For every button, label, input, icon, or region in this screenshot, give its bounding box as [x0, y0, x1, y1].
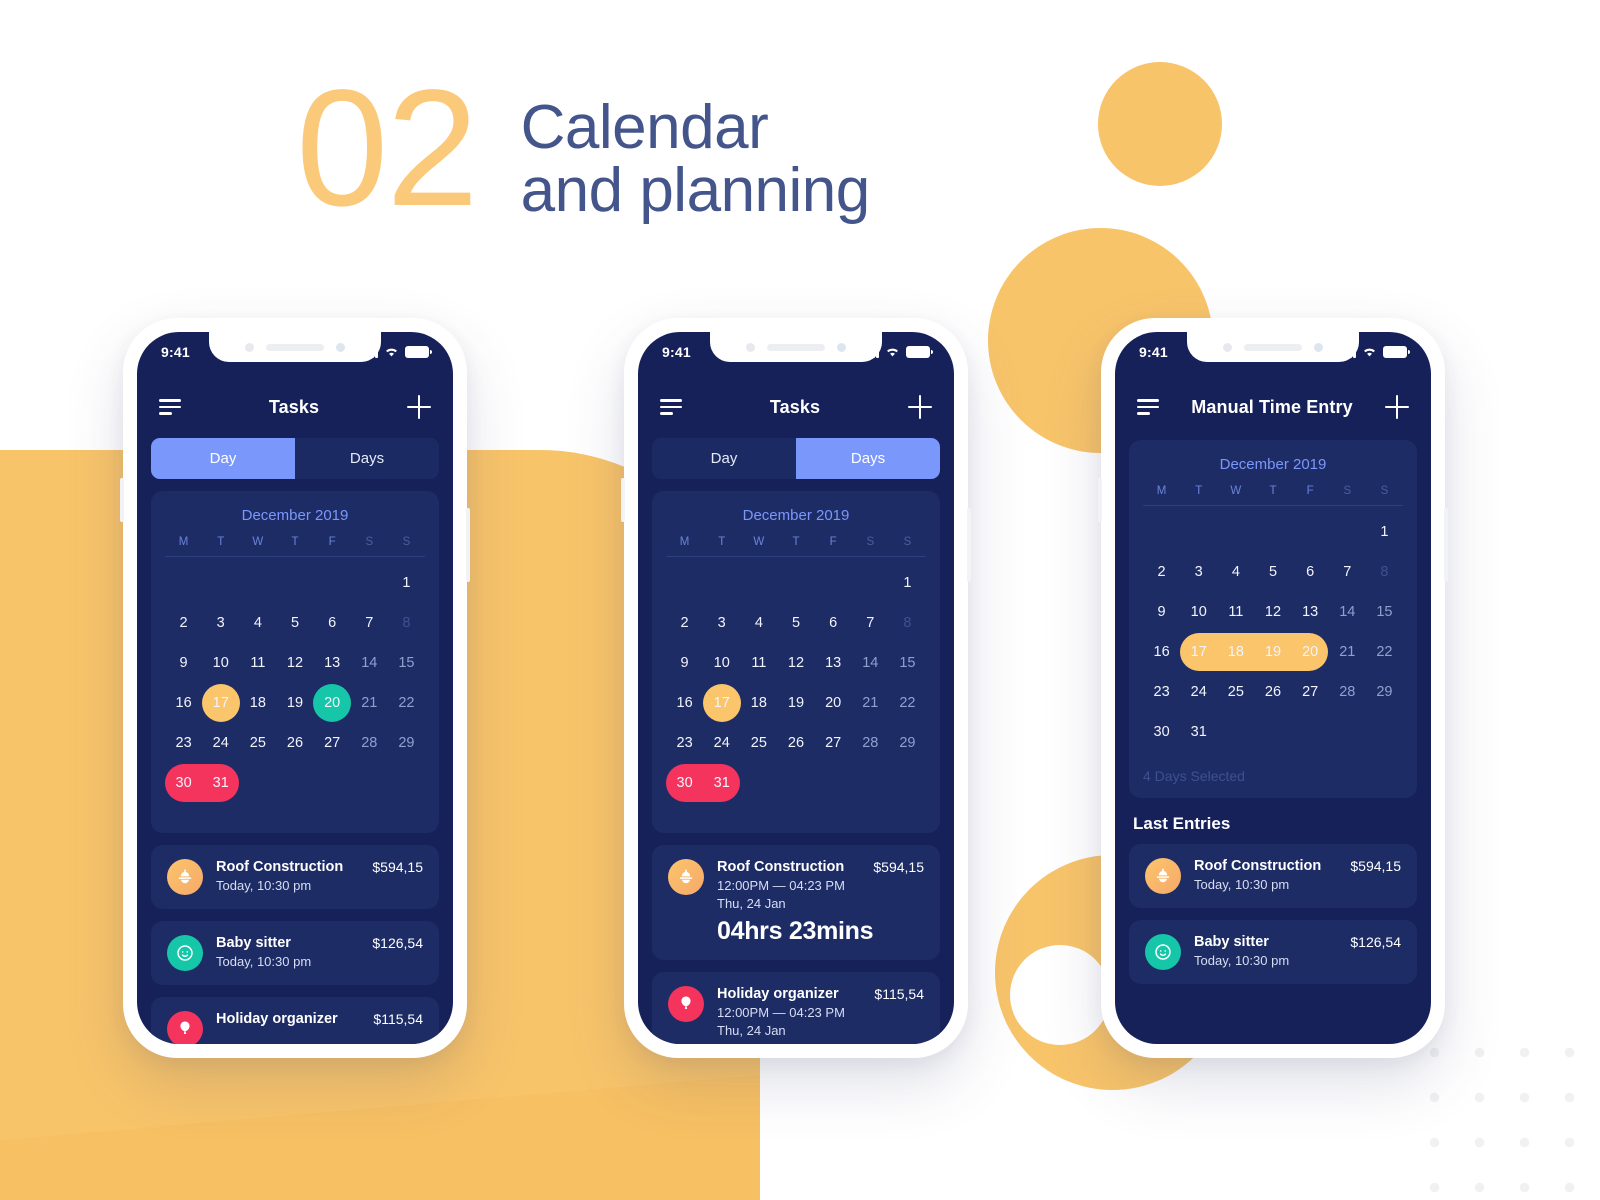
calendar-day-13[interactable]: 13 [314, 643, 351, 683]
calendar-day-27[interactable]: 27 [314, 723, 351, 763]
status-time: 9:41 [161, 344, 190, 360]
calendar-day-17[interactable]: 17 [1180, 632, 1217, 672]
phone-side-button [1444, 508, 1448, 582]
task-subtitle: Today, 10:30 pm [1194, 877, 1321, 892]
calendar-day-3[interactable]: 3 [703, 603, 740, 643]
calendar-day-label: 19 [287, 695, 303, 711]
weekday-s1: S [852, 536, 889, 548]
app-body-manual: December 2019 M T W T F S S 123456789101… [1115, 440, 1431, 984]
calendar-day-25[interactable]: 25 [1217, 672, 1254, 712]
calendar-day-2[interactable]: 2 [1143, 552, 1180, 592]
page-title: Tasks [269, 397, 319, 418]
calendar-day-30[interactable]: 30 [165, 763, 202, 803]
status-time: 9:41 [1139, 344, 1168, 360]
slide-title-line-1: Calendar [521, 96, 870, 159]
calendar-day-11[interactable]: 11 [740, 643, 777, 683]
wifi-icon [885, 346, 900, 358]
segment-option-day[interactable]: Day [151, 438, 295, 479]
calendar-day-17[interactable]: 17 [703, 683, 740, 723]
calendar-day-label: 16 [1154, 644, 1170, 660]
calendar-day-2[interactable]: 2 [666, 603, 703, 643]
calendar-day-20[interactable]: 20 [1292, 632, 1329, 672]
task-amount: $594,15 [873, 859, 924, 875]
weekday-t2: T [777, 536, 814, 548]
calendar-weekday-row: M T W T F S S [165, 536, 425, 557]
calendar-day-18[interactable]: 18 [1217, 632, 1254, 672]
calendar-day-8[interactable]: 8 [388, 603, 425, 643]
calendar-day-label: 15 [899, 655, 915, 671]
calendar-day-13[interactable]: 13 [1292, 592, 1329, 632]
phone-volume-button [120, 478, 124, 522]
decor-circle-lower-hole [1010, 945, 1110, 1045]
weekday-m: M [165, 536, 202, 548]
status-bar: 9:41 [137, 332, 453, 376]
calendar-day-26[interactable]: 26 [276, 723, 313, 763]
task-info: Baby sitter Today, 10:30 pm $126,54 [216, 935, 423, 969]
calendar-day-23[interactable]: 23 [1143, 672, 1180, 712]
decor-circle-top-right [1098, 62, 1222, 186]
task-name: Baby sitter [216, 935, 311, 951]
calendar-day-label: 8 [1380, 564, 1388, 580]
page-title: Manual Time Entry [1191, 397, 1352, 418]
calendar-day-26[interactable]: 26 [1254, 672, 1291, 712]
calendar-day-28[interactable]: 28 [1329, 672, 1366, 712]
calendar-day-26[interactable]: 26 [777, 723, 814, 763]
weekday-s1: S [1329, 485, 1366, 497]
status-time: 9:41 [662, 344, 691, 360]
phone-volume-button [1098, 478, 1102, 522]
calendar-day-21[interactable]: 21 [852, 683, 889, 723]
calendar-day-label: 4 [254, 615, 262, 631]
calendar-day-label: 2 [1158, 564, 1166, 580]
slide-heading: 02 Calendar and planning [296, 66, 870, 232]
weekday-t1: T [202, 536, 239, 548]
calendar-grid-day[interactable]: 1234567891011121314151617181920212223242… [165, 563, 425, 803]
signal-bars-icon [863, 347, 880, 358]
calendar-day-3[interactable]: 3 [1180, 552, 1217, 592]
hamburger-icon[interactable] [660, 399, 682, 415]
weekday-f: F [314, 536, 351, 548]
calendar-day-2[interactable]: 2 [165, 603, 202, 643]
calendar-day-8[interactable]: 8 [1366, 552, 1403, 592]
calendar-day-15[interactable]: 15 [1366, 592, 1403, 632]
calendar-day-19[interactable]: 19 [777, 683, 814, 723]
plus-icon[interactable] [908, 395, 932, 419]
calendar-day-label: 3 [718, 615, 726, 631]
phone-side-button [466, 508, 470, 582]
task-amount: $594,15 [1350, 858, 1401, 874]
calendar-day-label: 8 [903, 615, 911, 631]
calendar-day-label: 1 [402, 575, 410, 591]
weekday-f: F [1292, 485, 1329, 497]
task-amount: $115,54 [373, 1011, 423, 1027]
status-icons [362, 346, 430, 358]
calendar-day-label: 10 [213, 655, 229, 671]
phone-screen-day: 9:41 Tasks Day Days December 2019 [137, 332, 453, 1044]
hamburger-icon[interactable] [159, 399, 181, 415]
calendar-day-label: 17 [213, 695, 229, 711]
plus-icon[interactable] [407, 395, 431, 419]
calendar-day-label: 5 [792, 615, 800, 631]
app-navbar-manual: Manual Time Entry [1115, 376, 1431, 438]
calendar-day-label: 12 [1265, 604, 1281, 620]
calendar-day-5[interactable]: 5 [276, 603, 313, 643]
calendar-day-label: 24 [213, 735, 229, 751]
page-title: Tasks [770, 397, 820, 418]
calendar-day-25[interactable]: 25 [740, 723, 777, 763]
weekday-t2: T [276, 536, 313, 548]
task-row[interactable]: Roof Construction Today, 10:30 pm $594,1… [1129, 844, 1417, 908]
task-subtitle: Today, 10:30 pm [1194, 953, 1289, 968]
task-name: Holiday organizer [717, 986, 845, 1002]
calendar-day-label: 4 [755, 615, 763, 631]
weekday-s2: S [1366, 485, 1403, 497]
calendar-day-16[interactable]: 16 [666, 683, 703, 723]
weekday-w: W [740, 536, 777, 548]
calendar-weekday-row: M T W T F S S [666, 536, 926, 557]
calendar-day-label: 28 [1339, 684, 1355, 700]
phone-screen-manual: 9:41 Manual Time Entry December 2019 M T [1115, 332, 1431, 1044]
calendar-day-label: 14 [862, 655, 878, 671]
slide-canvas: 02 Calendar and planning 9:41 [0, 0, 1600, 1200]
calendar-day-label: 27 [324, 735, 340, 751]
task-amount: $126,54 [1350, 934, 1401, 950]
calendar-day-25[interactable]: 25 [239, 723, 276, 763]
calendar-day-label: 5 [291, 615, 299, 631]
calendar-day-15[interactable]: 15 [388, 643, 425, 683]
plus-icon[interactable] [1385, 395, 1409, 419]
calendar-day-20[interactable]: 20 [815, 683, 852, 723]
calendar-day-label: 30 [677, 775, 693, 791]
baby-face-icon [167, 935, 203, 971]
calendar-day-label: 3 [217, 615, 225, 631]
calendar-blank-cell [351, 563, 388, 603]
calendar-month-label: December 2019 [1143, 456, 1403, 473]
calendar-day-label: 4 [1232, 564, 1240, 580]
calendar-day-5[interactable]: 5 [1254, 552, 1291, 592]
phone-mockup-manual: 9:41 Manual Time Entry December 2019 M T [1101, 318, 1445, 1058]
task-name: Holiday organizer [216, 1011, 338, 1027]
calendar-day-label: 19 [1265, 644, 1281, 660]
calendar-day-4[interactable]: 4 [1217, 552, 1254, 592]
task-row[interactable]: Holiday organizer $115,54 [151, 997, 439, 1044]
calendar-day-label: 5 [1269, 564, 1277, 580]
calendar-day-4[interactable]: 4 [239, 603, 276, 643]
calendar-day-label: 20 [1302, 644, 1318, 660]
calendar-blank-cell [815, 563, 852, 603]
calendar-day-1[interactable]: 1 [1366, 512, 1403, 552]
calendar-day-label: 23 [677, 735, 693, 751]
calendar-day-label: 20 [825, 695, 841, 711]
calendar-day-23[interactable]: 23 [165, 723, 202, 763]
calendar-day-31[interactable]: 31 [202, 763, 239, 803]
calendar-day-label: 28 [361, 735, 377, 751]
calendar-day-14[interactable]: 14 [351, 643, 388, 683]
app-body-day: Day Days December 2019 M T W T F S S 123… [137, 438, 453, 1044]
calendar-blank-cell [202, 563, 239, 603]
calendar-day-label: 29 [1376, 684, 1392, 700]
calendar-day-11[interactable]: 11 [1217, 592, 1254, 632]
calendar-day-12[interactable]: 12 [276, 643, 313, 683]
calendar-day-28[interactable]: 28 [351, 723, 388, 763]
task-time-range: 12:00PM — 04:23 PM [717, 1005, 845, 1020]
task-name: Roof Construction [1194, 858, 1321, 874]
balloon-icon [167, 1011, 203, 1044]
calendar-day-24[interactable]: 24 [202, 723, 239, 763]
calendar-day-label: 13 [324, 655, 340, 671]
weekday-m: M [666, 536, 703, 548]
calendar-day-21[interactable]: 21 [1329, 632, 1366, 672]
calendar-day-label: 11 [1228, 604, 1243, 620]
calendar-day-22[interactable]: 22 [1366, 632, 1403, 672]
calendar-day-label: 27 [825, 735, 841, 751]
battery-icon [1383, 346, 1407, 358]
calendar-day-18[interactable]: 18 [239, 683, 276, 723]
calendar-day-label: 18 [1228, 644, 1244, 660]
calendar-blank-cell [1329, 512, 1366, 552]
calendar-day-3[interactable]: 3 [202, 603, 239, 643]
calendar-day-31[interactable]: 31 [703, 763, 740, 803]
calendar-day-8[interactable]: 8 [889, 603, 926, 643]
slide-number: 02 [296, 66, 477, 232]
status-icons [863, 346, 931, 358]
segment-option-days[interactable]: Days [295, 438, 439, 479]
calendar-day-22[interactable]: 22 [388, 683, 425, 723]
calendar-day-label: 8 [402, 615, 410, 631]
calendar-day-label: 31 [714, 775, 730, 791]
calendar-blank-cell [314, 563, 351, 603]
segment-option-day[interactable]: Day [652, 438, 796, 479]
calendar-day-label: 29 [398, 735, 414, 751]
calendar-day-9[interactable]: 9 [165, 643, 202, 683]
view-mode-segment-days: Day Days [652, 438, 940, 479]
calendar-blank-cell [1217, 512, 1254, 552]
slide-title-line-2: and planning [521, 159, 870, 222]
calendar-day-27[interactable]: 27 [815, 723, 852, 763]
balloon-icon [668, 986, 704, 1022]
calendar-day-label: 26 [1265, 684, 1281, 700]
calendar-day-29[interactable]: 29 [1366, 672, 1403, 712]
calendar-day-10[interactable]: 10 [1180, 592, 1217, 632]
calendar-day-6[interactable]: 6 [815, 603, 852, 643]
calendar-blank-cell [1292, 512, 1329, 552]
calendar-day-27[interactable]: 27 [1292, 672, 1329, 712]
task-row[interactable]: Roof Construction Today, 10:30 pm $594,1… [151, 845, 439, 909]
calendar-day-label: 25 [1228, 684, 1244, 700]
calendar-day-18[interactable]: 18 [740, 683, 777, 723]
calendar-day-label: 3 [1195, 564, 1203, 580]
signal-bars-icon [1340, 347, 1357, 358]
calendar-day-label: 6 [829, 615, 837, 631]
view-mode-segment-day: Day Days [151, 438, 439, 479]
calendar-day-16[interactable]: 16 [1143, 632, 1180, 672]
calendar-day-1[interactable]: 1 [388, 563, 425, 603]
weekday-s1: S [351, 536, 388, 548]
calendar-day-label: 9 [681, 655, 689, 671]
calendar-day-label: 25 [250, 735, 266, 751]
calendar-day-label: 13 [1302, 604, 1318, 620]
calendar-day-16[interactable]: 16 [165, 683, 202, 723]
calendar-card-day: December 2019 M T W T F S S 123456789101… [151, 491, 439, 833]
baby-face-icon [1145, 934, 1181, 970]
calendar-day-10[interactable]: 10 [703, 643, 740, 683]
calendar-day-label: 29 [899, 735, 915, 751]
calendar-day-label: 18 [250, 695, 266, 711]
calendar-blank-cell [165, 563, 202, 603]
calendar-day-13[interactable]: 13 [815, 643, 852, 683]
calendar-month-label: December 2019 [666, 507, 926, 524]
calendar-day-label: 6 [328, 615, 336, 631]
calendar-day-20[interactable]: 20 [314, 683, 351, 723]
calendar-day-24[interactable]: 24 [1180, 672, 1217, 712]
calendar-day-30[interactable]: 30 [1143, 712, 1180, 752]
task-row[interactable]: Holiday organizer 12:00PM — 04:23 PM Thu… [652, 972, 940, 1044]
calendar-day-22[interactable]: 22 [889, 683, 926, 723]
calendar-day-11[interactable]: 11 [239, 643, 276, 683]
calendar-grid-days[interactable]: 1234567891011121314151617181920212223242… [666, 563, 926, 803]
calendar-day-29[interactable]: 29 [889, 723, 926, 763]
weekday-t1: T [703, 536, 740, 548]
calendar-day-label: 31 [213, 775, 229, 791]
calendar-blank-cell [703, 563, 740, 603]
calendar-day-label: 14 [361, 655, 377, 671]
task-info: Roof Construction Today, 10:30 pm $594,1… [216, 859, 423, 893]
calendar-day-label: 22 [899, 695, 915, 711]
calendar-day-label: 24 [714, 735, 730, 751]
wifi-icon [384, 346, 399, 358]
weekday-w: W [1217, 485, 1254, 497]
calendar-day-14[interactable]: 14 [852, 643, 889, 683]
calendar-day-label: 10 [1191, 604, 1207, 620]
calendar-blank-cell [239, 563, 276, 603]
calendar-blank-cell [777, 563, 814, 603]
calendar-day-6[interactable]: 6 [314, 603, 351, 643]
calendar-day-label: 21 [1339, 644, 1355, 660]
calendar-day-label: 13 [825, 655, 841, 671]
calendar-day-24[interactable]: 24 [703, 723, 740, 763]
calendar-day-31[interactable]: 31 [1180, 712, 1217, 752]
calendar-day-label: 15 [398, 655, 414, 671]
calendar-day-label: 12 [788, 655, 804, 671]
status-icons [1340, 346, 1408, 358]
calendar-day-label: 7 [866, 615, 874, 631]
wifi-icon [1362, 346, 1377, 358]
calendar-blank-cell [1254, 512, 1291, 552]
calendar-day-4[interactable]: 4 [740, 603, 777, 643]
calendar-day-14[interactable]: 14 [1329, 592, 1366, 632]
task-info: Baby sitter Today, 10:30 pm $126,54 [1194, 934, 1401, 968]
task-info: Holiday organizer 12:00PM — 04:23 PM Thu… [717, 986, 924, 1038]
task-subtitle: Today, 10:30 pm [216, 878, 343, 893]
calendar-day-7[interactable]: 7 [351, 603, 388, 643]
calendar-day-28[interactable]: 28 [852, 723, 889, 763]
slide-title: Calendar and planning [521, 96, 870, 222]
task-subtitle: Today, 10:30 pm [216, 954, 311, 969]
calendar-day-label: 1 [1380, 524, 1388, 540]
task-date: Thu, 24 Jan [717, 896, 845, 911]
calendar-day-30[interactable]: 30 [666, 763, 703, 803]
weekday-s2: S [388, 536, 425, 548]
calendar-day-label: 20 [324, 695, 340, 711]
task-amount: $594,15 [372, 859, 423, 875]
hamburger-icon[interactable] [1137, 399, 1159, 415]
calendar-day-label: 23 [1154, 684, 1170, 700]
calendar-day-23[interactable]: 23 [666, 723, 703, 763]
hardhat-worker-icon [1145, 858, 1181, 894]
calendar-day-6[interactable]: 6 [1292, 552, 1329, 592]
calendar-day-label: 9 [1158, 604, 1166, 620]
calendar-day-label: 9 [180, 655, 188, 671]
calendar-day-label: 10 [714, 655, 730, 671]
calendar-card-manual: December 2019 M T W T F S S 123456789101… [1129, 440, 1417, 798]
calendar-day-19[interactable]: 19 [276, 683, 313, 723]
calendar-day-label: 11 [250, 655, 265, 671]
calendar-day-9[interactable]: 9 [666, 643, 703, 683]
phone-side-button [967, 508, 971, 582]
task-name: Baby sitter [1194, 934, 1289, 950]
status-bar: 9:41 [638, 332, 954, 376]
signal-bars-icon [362, 347, 379, 358]
calendar-day-17[interactable]: 17 [202, 683, 239, 723]
calendar-blank-cell [1143, 512, 1180, 552]
calendar-day-label: 12 [287, 655, 303, 671]
calendar-day-15[interactable]: 15 [889, 643, 926, 683]
calendar-day-21[interactable]: 21 [351, 683, 388, 723]
calendar-day-label: 2 [681, 615, 689, 631]
battery-icon [405, 346, 429, 358]
calendar-day-label: 16 [677, 695, 693, 711]
segment-option-days[interactable]: Days [796, 438, 940, 479]
task-info: Roof Construction 12:00PM — 04:23 PM Thu… [717, 859, 924, 946]
calendar-day-1[interactable]: 1 [889, 563, 926, 603]
calendar-day-label: 17 [1191, 644, 1207, 660]
calendar-day-label: 14 [1339, 604, 1355, 620]
task-row[interactable]: Baby sitter Today, 10:30 pm $126,54 [151, 921, 439, 985]
calendar-day-label: 27 [1302, 684, 1318, 700]
task-date: Thu, 24 Jan [717, 1023, 845, 1038]
weekday-m: M [1143, 485, 1180, 497]
calendar-day-label: 7 [1343, 564, 1351, 580]
calendar-day-label: 24 [1191, 684, 1207, 700]
calendar-day-7[interactable]: 7 [852, 603, 889, 643]
calendar-day-label: 22 [1376, 644, 1392, 660]
task-row[interactable]: Roof Construction 12:00PM — 04:23 PM Thu… [652, 845, 940, 960]
hardhat-worker-icon [668, 859, 704, 895]
phone-volume-button [621, 478, 625, 522]
calendar-day-label: 1 [903, 575, 911, 591]
calendar-card-days: December 2019 M T W T F S S 123456789101… [652, 491, 940, 833]
decor-dot-grid [1400, 1020, 1600, 1200]
calendar-day-29[interactable]: 29 [388, 723, 425, 763]
calendar-day-12[interactable]: 12 [777, 643, 814, 683]
calendar-month-label: December 2019 [165, 507, 425, 524]
calendar-grid-manual[interactable]: 1234567891011121314151617181920212223242… [1143, 512, 1403, 752]
calendar-day-12[interactable]: 12 [1254, 592, 1291, 632]
weekday-s2: S [889, 536, 926, 548]
calendar-blank-cell [276, 563, 313, 603]
calendar-day-10[interactable]: 10 [202, 643, 239, 683]
calendar-day-19[interactable]: 19 [1254, 632, 1291, 672]
calendar-day-9[interactable]: 9 [1143, 592, 1180, 632]
calendar-blank-cell [666, 563, 703, 603]
calendar-day-label: 26 [287, 735, 303, 751]
task-row[interactable]: Baby sitter Today, 10:30 pm $126,54 [1129, 920, 1417, 984]
task-amount: $115,54 [874, 986, 924, 1002]
calendar-day-7[interactable]: 7 [1329, 552, 1366, 592]
weekday-t2: T [1254, 485, 1291, 497]
phone-mockup-day: 9:41 Tasks Day Days December 2019 [123, 318, 467, 1058]
calendar-day-5[interactable]: 5 [777, 603, 814, 643]
